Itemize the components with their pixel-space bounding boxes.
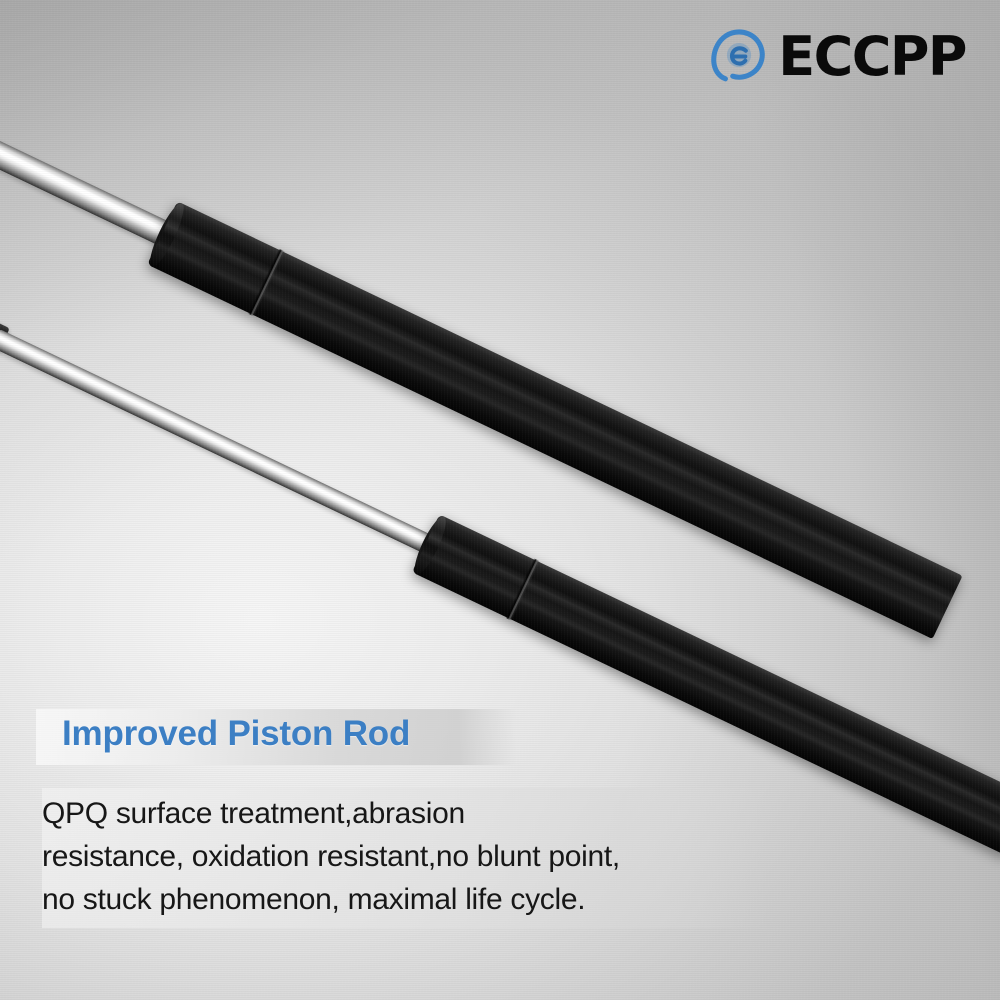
product-feature-image: ECCPP Improved Piston Rod QPQ surface tr…	[0, 0, 1000, 1000]
description-line-2: resistance, oxidation resistant,no blunt…	[42, 835, 782, 878]
description-line-1: QPQ surface treatment,abrasion	[42, 792, 782, 835]
description-line-3: no stuck phenomenon, maximal life cycle.	[42, 878, 782, 921]
eccpp-hexagon-spiral-logo-icon	[708, 26, 770, 88]
feature-headline: Improved Piston Rod	[62, 714, 410, 754]
brand-name: ECCPP	[778, 30, 966, 84]
brand-logo: ECCPP	[708, 26, 966, 88]
feature-description: QPQ surface treatment,abrasion resistanc…	[42, 792, 782, 921]
